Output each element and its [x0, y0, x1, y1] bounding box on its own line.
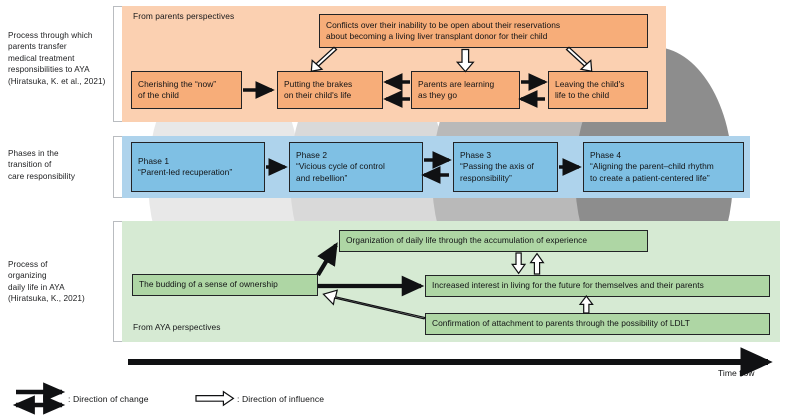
time-flow-label: Time flow	[718, 368, 754, 378]
influence-arrow-conflicts-to-learning	[457, 50, 473, 72]
diagram-canvas: Process through which parents transfer m…	[0, 0, 790, 418]
influence-arrow-confirmation-to-budding	[323, 290, 425, 319]
arrow-brakes-to-learning	[386, 82, 410, 99]
connector-layer	[0, 0, 790, 418]
arrow-budding-to-organization	[318, 245, 336, 275]
influence-arrow-conflicts-to-brakes	[311, 47, 336, 71]
influence-arrow-conflicts-to-leaving	[567, 47, 592, 71]
influence-arrow-confirmation-to-increased	[580, 296, 593, 313]
arrow-phase2-to-phase3	[424, 160, 449, 175]
influence-arrow-organization-to-increased	[512, 253, 525, 273]
influence-arrow-increased-to-organization	[531, 254, 544, 274]
legend-influence-label: : Direction of influence	[237, 394, 324, 404]
legend-change-label: : Direction of change	[68, 394, 149, 404]
legend-change-icon	[16, 392, 62, 405]
legend-influence-icon	[196, 392, 233, 406]
arrow-learning-to-leaving	[521, 82, 545, 99]
